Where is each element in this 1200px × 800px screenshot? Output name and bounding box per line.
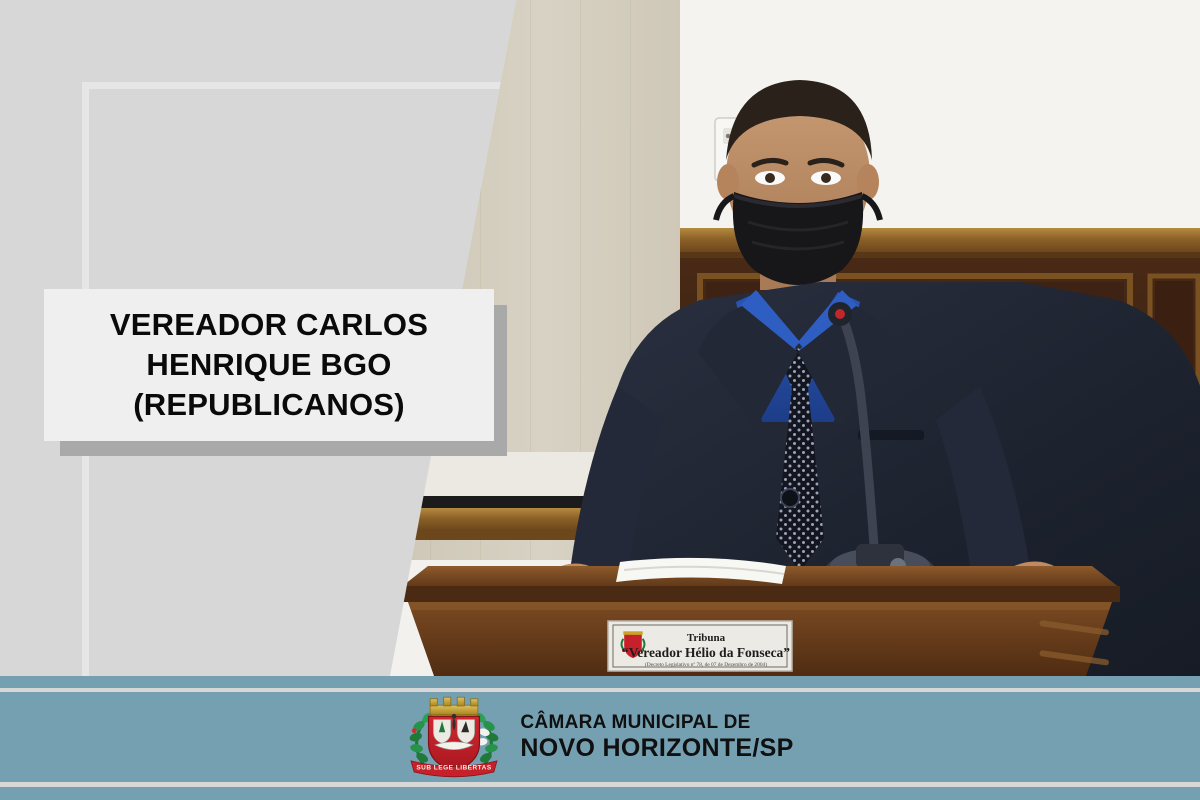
footer-content: SUB LEGE LIBERTAS CÂMARA MUNICIPAL DE NO…: [0, 692, 1200, 782]
motto-text: SUB LEGE LIBERTAS: [417, 765, 493, 772]
page-title: VEREADOR CARLOS HENRIQUE BGO (REPUBLICAN…: [96, 305, 442, 426]
shield: [429, 714, 480, 772]
footer-line-2: NOVO HORIZONTE/SP: [520, 734, 793, 762]
footer-stripe-top: [0, 676, 1200, 688]
coat-of-arms-icon: SUB LEGE LIBERTAS: [406, 694, 502, 780]
footer-stripe-bottom: [0, 787, 1200, 800]
footer-line-1: CÂMARA MUNICIPAL DE: [520, 712, 793, 733]
footer-institution-name: CÂMARA MUNICIPAL DE NOVO HORIZONTE/SP: [520, 712, 793, 761]
tribune-plaque: Tribuna “Vereador Hélio da Fonseca” (Dec…: [608, 621, 792, 671]
title-plate: VEREADOR CARLOS HENRIQUE BGO (REPUBLICAN…: [44, 289, 494, 441]
plaque-line3: (Decreto Legislativo nº 78, de 07 de Dez…: [645, 661, 767, 668]
plaque-line2: “Vereador Hélio da Fonseca”: [622, 645, 790, 660]
plaque-line1: Tribuna: [687, 632, 726, 644]
social-media-banner: Tribuna “Vereador Hélio da Fonseca” (Dec…: [0, 0, 1200, 800]
mural-crown: [431, 697, 479, 715]
